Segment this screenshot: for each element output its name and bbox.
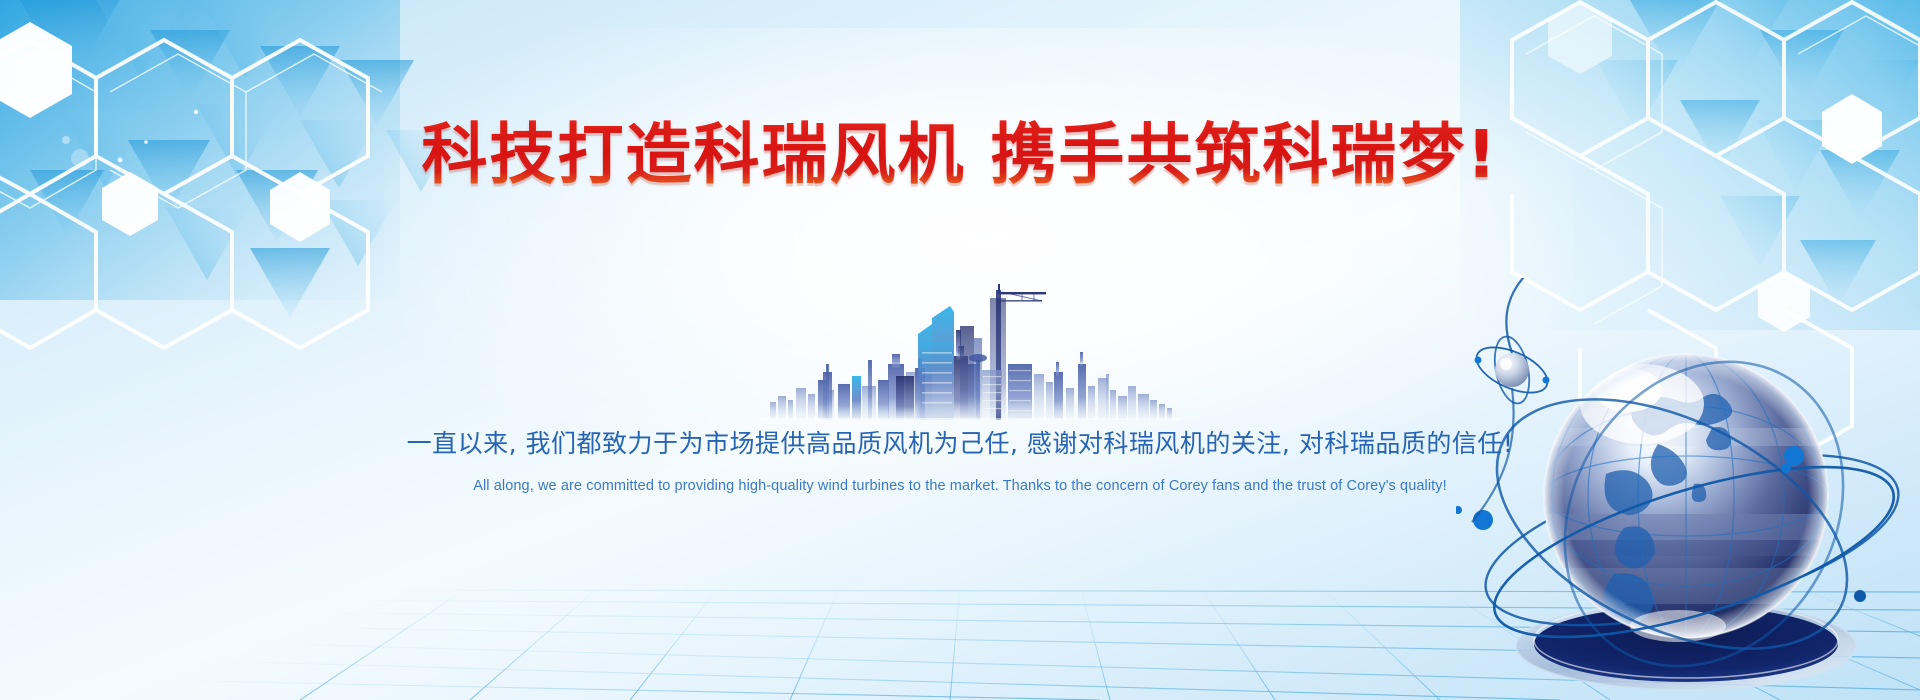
- globe-sphere: [1544, 354, 1828, 642]
- main-tower: [918, 306, 954, 420]
- headline-container: 科技打造科瑞风机 携手共筑科瑞梦!: [0, 118, 1920, 192]
- subtitle-english: All along, we are committed to providing…: [0, 478, 1920, 494]
- city-skyline-silhouette: [760, 268, 1180, 420]
- subtitle-chinese: 一直以来, 我们都致力于为市场提供高品质风机为己任, 感谢对科瑞风机的关注, 对…: [0, 424, 1920, 460]
- promo-banner: 科技打造科瑞风机 携手共筑科瑞梦! 科技打造科瑞风机 携手共筑科瑞梦! 一直以来…: [0, 0, 1920, 700]
- subtitle-container: 一直以来, 我们都致力于为市场提供高品质风机为己任, 感谢对科瑞风机的关注, 对…: [0, 424, 1920, 494]
- page-title: 科技打造科瑞风机 携手共筑科瑞梦!: [421, 118, 1498, 192]
- tech-hexagon-pattern-left: [0, 0, 640, 420]
